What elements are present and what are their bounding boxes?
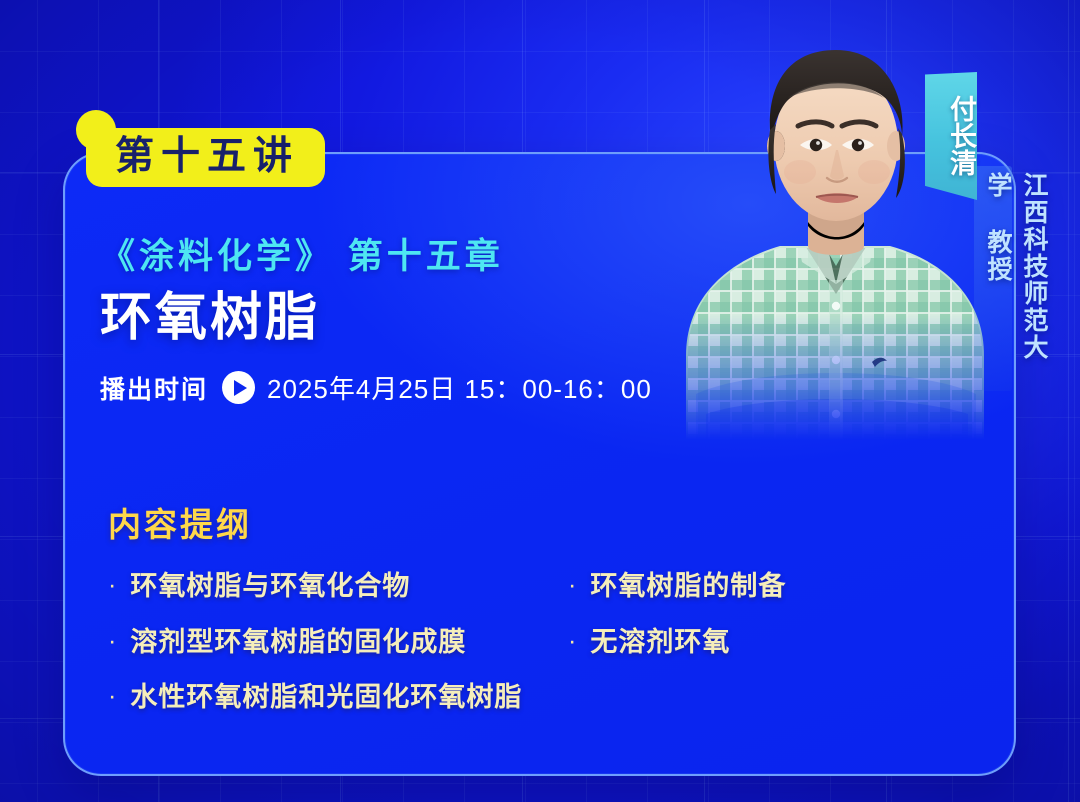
outline-heading: 内容提纲 [108, 498, 908, 546]
outline-item-text: 无溶剂环氧 [590, 628, 730, 658]
speaker-affiliation: 江西科技师范大学 教授 [980, 172, 1052, 380]
bullet-icon: · [108, 683, 116, 711]
outline-column-left: · 环氧树脂与环氧化合物 · 溶剂型环氧树脂的固化成膜 · 水性环氧树脂和光固化… [108, 572, 568, 739]
lecture-title: 环氧树脂 [100, 290, 652, 347]
outline-item-text: 环氧树脂与环氧化合物 [130, 572, 410, 602]
list-item: · 环氧树脂与环氧化合物 [108, 572, 568, 602]
list-item: · 溶剂型环氧树脂的固化成膜 [108, 628, 568, 658]
outline-columns: · 环氧树脂与环氧化合物 · 溶剂型环氧树脂的固化成膜 · 水性环氧树脂和光固化… [108, 572, 908, 739]
outline-item-text: 水性环氧树脂和光固化环氧树脂 [130, 683, 522, 713]
speaker-name: 付长清 [925, 82, 977, 188]
bullet-icon: · [108, 628, 116, 656]
bullet-icon: · [568, 628, 576, 656]
poster-stage: 第十五讲 《涂料化学》 第十五章 环氧树脂 播出时间 2025年4月25日 15… [0, 0, 1080, 802]
speaker-portrait [676, 0, 994, 440]
lecture-number-label: 第十五讲 [112, 137, 299, 176]
airtime-value: 2025年4月25日 15：00-16：00 [267, 369, 652, 406]
outline-item-text: 溶剂型环氧树脂的固化成膜 [130, 628, 466, 658]
bullet-icon: · [568, 572, 576, 600]
speaker-name-ribbon: 付长清 [925, 72, 977, 200]
outline-column-right: · 环氧树脂的制备 · 无溶剂环氧 [568, 572, 898, 739]
course-subtitle: 《涂料化学》 第十五章 [100, 236, 652, 278]
outline-item-text: 环氧树脂的制备 [590, 572, 786, 602]
play-icon[interactable] [222, 371, 255, 404]
list-item: · 水性环氧树脂和光固化环氧树脂 [108, 683, 568, 713]
airtime-label: 播出时间 [100, 370, 208, 406]
airtime-row: 播出时间 2025年4月25日 15：00-16：00 [100, 369, 652, 406]
list-item: · 无溶剂环氧 [568, 628, 898, 658]
list-item: · 环氧树脂的制备 [568, 572, 898, 602]
lecture-number-badge: 第十五讲 [86, 128, 325, 187]
title-block: 《涂料化学》 第十五章 环氧树脂 播出时间 2025年4月25日 15：00-1… [100, 236, 652, 406]
bullet-icon: · [108, 572, 116, 600]
outline-section: 内容提纲 · 环氧树脂与环氧化合物 · 溶剂型环氧树脂的固化成膜 · 水性环氧树… [108, 498, 908, 739]
